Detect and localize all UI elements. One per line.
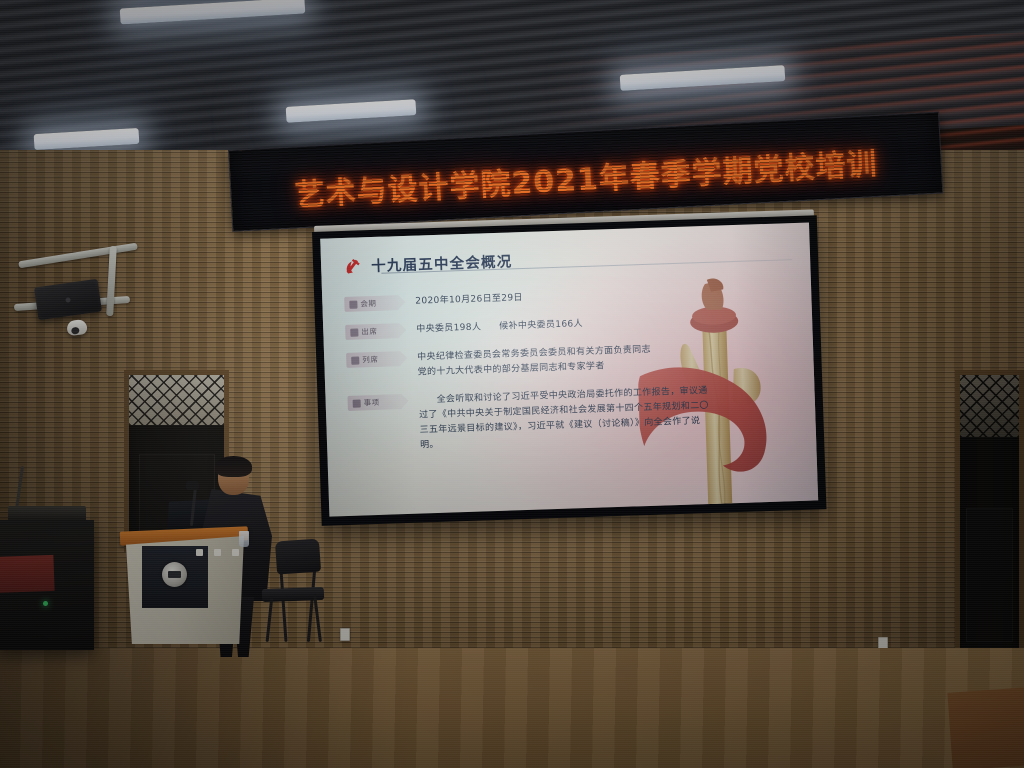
row-tag-observers: 列席 (346, 351, 400, 368)
row-tag-label: 会期 (360, 298, 376, 310)
slide-content: 十九届五中全会概况 会期 2020年10月26日至29日 (320, 223, 818, 517)
projection-screen: 十九届五中全会概况 会期 2020年10月26日至29日 (312, 215, 826, 526)
water-cup (239, 531, 249, 547)
row-line: 中央委员198人候补中央委员166人 (416, 317, 583, 338)
row-body-observers: 中央纪律检查委员会常务委员会委员和有关方面负责同志 党的十九大代表中的部分基层同… (417, 343, 652, 381)
row-body-matters: 全会听取和讨论了习近平受中央政治局委托作的工作报告，审议通过了《中共中央关于制定… (418, 384, 712, 454)
slide-row-matters: 事项 全会听取和讨论了习近平受中央政治局委托作的工作报告，审议通过了《中共中央关… (347, 381, 800, 456)
side-table (947, 687, 1024, 768)
row-tag-attendance: 出席 (345, 323, 399, 340)
row-body-attendance: 中央委员198人候补中央委员166人 (416, 317, 583, 338)
podium-button[interactable] (196, 549, 203, 556)
row-tag-label: 出席 (361, 326, 377, 338)
row-tag-date: 会期 (344, 295, 398, 312)
slide-surface: 十九届五中全会概况 会期 2020年10月26日至29日 (320, 223, 818, 517)
floor-shading (0, 648, 1024, 768)
row-body-date: 2020年10月26日至29日 (415, 291, 523, 310)
lecture-hall-photo: 艺术与设计学院2021年春季学期党校培训 (0, 0, 1024, 768)
row-tag-label: 事项 (364, 397, 380, 409)
red-side-table (0, 555, 55, 593)
document-icon (353, 399, 361, 407)
folding-chair[interactable] (258, 540, 328, 642)
row-tag-label: 列席 (362, 354, 378, 366)
slide-row-attendance: 出席 中央委员198人候补中央委员166人 (345, 310, 796, 340)
university-emblem-icon (162, 562, 187, 587)
chair-leg (279, 570, 287, 642)
seat-icon (351, 356, 359, 364)
row-paragraph: 全会听取和讨论了习近平受中央政治局委托作的工作报告，审议通过了《中共中央关于制定… (418, 384, 712, 454)
chair-back (275, 539, 321, 575)
slide-row-date: 会期 2020年10月26日至29日 (344, 282, 795, 312)
podium-mic-head-icon (186, 481, 199, 490)
clock-icon (349, 300, 357, 308)
people-icon (350, 328, 358, 336)
chair-leg (266, 596, 274, 642)
slide-row-observers: 列席 中央纪律检查委员会常务委员会委员和有关方面负责同志 党的十九大代表中的部分… (346, 338, 798, 383)
podium-button[interactable] (232, 549, 239, 556)
chair-leg (313, 594, 322, 642)
party-emblem-icon (343, 256, 363, 276)
wall-switch-plate[interactable] (340, 628, 350, 641)
row-tag-matters: 事项 (347, 394, 401, 411)
presenter-hair (215, 456, 252, 477)
podium-button[interactable] (214, 549, 221, 556)
row-line: 2020年10月26日至29日 (415, 291, 523, 310)
slide-rows: 会期 2020年10月26日至29日 出席 中央委员198人候补中央委员166人 (344, 282, 800, 456)
